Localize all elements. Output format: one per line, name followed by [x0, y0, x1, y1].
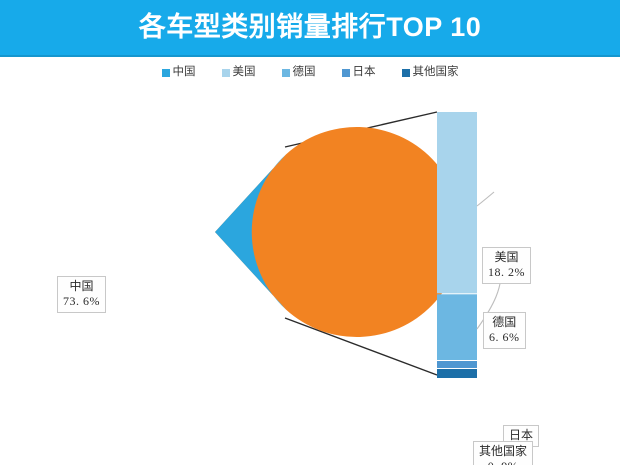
bar-segment-usa[interactable]	[437, 112, 477, 293]
plot-area: 中国 73. 6% 美国 18. 2% 德国 6. 6% 日本 其他国家 0. …	[0, 86, 620, 465]
callout-china-name: 中国	[63, 279, 100, 294]
bar-segment-germany[interactable]	[437, 294, 477, 360]
legend-swatch-usa	[222, 69, 230, 77]
callout-germany[interactable]: 德国 6. 6%	[483, 312, 526, 349]
callout-other-name: 其他国家	[479, 444, 527, 459]
callout-china[interactable]: 中国 73. 6%	[57, 276, 106, 313]
legend-label-japan: 日本	[353, 67, 376, 79]
page-title: 各车型类别销量排行TOP 10	[0, 0, 620, 55]
bar-segment-other[interactable]	[437, 369, 477, 378]
callout-usa-value: 18. 2%	[488, 265, 525, 280]
callout-other-value: 0. 9%	[479, 459, 527, 465]
legend-item-japan[interactable]: 日本	[342, 67, 376, 79]
legend-swatch-japan	[342, 69, 350, 77]
breakout-stacked-bar	[437, 112, 477, 378]
legend-label-china: 中国	[173, 67, 196, 79]
pie-chart	[215, 127, 462, 337]
callout-china-value: 73. 6%	[63, 294, 100, 309]
pie-slice-china[interactable]	[215, 127, 462, 337]
chart-canvas: 各车型类别销量排行TOP 10 中国 美国 德国 日本 其他国家	[0, 0, 620, 465]
callout-other[interactable]: 其他国家 0. 9%	[473, 441, 533, 465]
callout-usa[interactable]: 美国 18. 2%	[482, 247, 531, 284]
legend-swatch-other	[402, 69, 410, 77]
legend-item-other[interactable]: 其他国家	[402, 67, 459, 79]
legend-label-germany: 德国	[293, 67, 316, 79]
legend-item-usa[interactable]: 美国	[222, 67, 256, 79]
title-bar: 各车型类别销量排行TOP 10	[0, 0, 620, 57]
legend-label-usa: 美国	[233, 67, 256, 79]
legend-swatch-germany	[282, 69, 290, 77]
callout-usa-name: 美国	[488, 250, 525, 265]
callout-germany-value: 6. 6%	[489, 330, 520, 345]
callout-germany-name: 德国	[489, 315, 520, 330]
chart-legend: 中国 美国 德国 日本 其他国家	[0, 64, 620, 82]
legend-item-germany[interactable]: 德国	[282, 67, 316, 79]
bar-segment-japan[interactable]	[437, 361, 477, 368]
legend-item-china[interactable]: 中国	[162, 67, 196, 79]
legend-swatch-china	[162, 69, 170, 77]
legend-label-other: 其他国家	[413, 67, 459, 79]
